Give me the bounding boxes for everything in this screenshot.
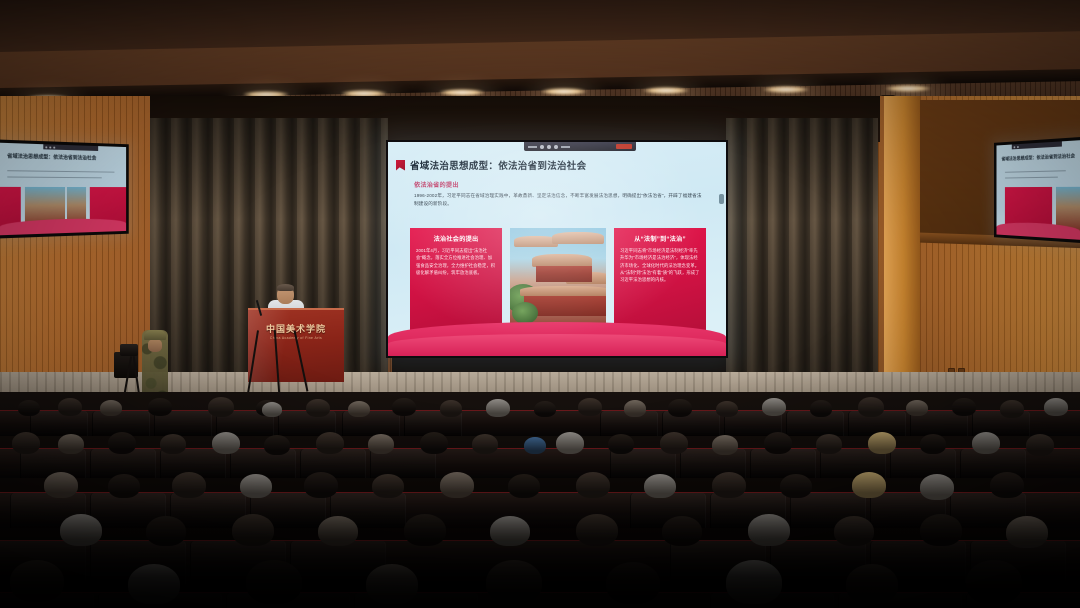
audience-head (368, 434, 394, 454)
audience-head (12, 432, 40, 454)
audience-head (44, 472, 78, 498)
audience-head (108, 474, 140, 498)
audience-head (662, 516, 702, 546)
audience-head (420, 432, 448, 454)
side-display-right-screen: 省域法治思想成型：依法治省到法治社会 (996, 140, 1080, 240)
audience-head (712, 472, 746, 498)
audience-head (472, 434, 498, 454)
audience-head (60, 514, 102, 546)
slide-card-text: 习近平同志将“市场经济是法制经济”率先升华为“市场经济是法治经济”，体现法经济市… (620, 247, 700, 283)
audience-head (608, 434, 634, 454)
audience-head (576, 472, 610, 498)
photo-haze (510, 228, 606, 330)
audience-head (748, 514, 790, 546)
audience-head (208, 397, 234, 417)
text-line (7, 176, 102, 178)
audience-head (10, 560, 64, 602)
audience-head (1026, 434, 1054, 456)
audience-head (972, 432, 1000, 454)
audience-head (920, 474, 954, 500)
downlight-6 (643, 87, 689, 94)
audience-head (966, 560, 1022, 604)
audience-head (392, 398, 416, 416)
audience-head (128, 564, 180, 604)
screen-side-marker (719, 194, 724, 204)
audience-head (534, 401, 556, 417)
audience-head (716, 401, 738, 417)
downlight-4 (439, 89, 485, 96)
text-line (1005, 170, 1066, 173)
audience-head (810, 400, 832, 417)
audience-head (846, 564, 898, 604)
slide-card-heading: 法治社会的提出 (416, 234, 496, 243)
timer-icon[interactable] (561, 146, 570, 148)
audience-head (780, 474, 812, 498)
audience-head (160, 434, 186, 454)
audience-head (100, 400, 122, 416)
presenter-toolbar-mini[interactable] (43, 144, 98, 151)
audience-head (246, 560, 302, 604)
podium-name-cn: 中国美术学院 (258, 322, 334, 335)
audience-head (556, 432, 584, 454)
presenter-toolbar[interactable] (524, 142, 636, 151)
audience-head (1000, 400, 1024, 418)
audience-head (712, 435, 738, 455)
audience-head (668, 399, 692, 417)
audience-head (920, 434, 946, 454)
slide-body-text: 1996-2002年，习近平同志在省域治理实践中，革故鼎新、坚定法治信念，不断丰… (414, 192, 704, 208)
slide-card-left: 法治社会的提出 2001年4月，习近平同志提出“法治社会”概念，落实全方位推进社… (410, 228, 502, 330)
audience-head (304, 472, 338, 498)
audience-head (240, 474, 272, 498)
audience-head (920, 514, 962, 546)
speaker-hair (277, 284, 294, 291)
audience-head (440, 400, 462, 417)
audience-head (490, 516, 530, 546)
slide-title: 省域法治思想成型：依法治省到法治社会 (410, 158, 586, 172)
audience-head (486, 560, 542, 604)
stage-curtain-right (726, 118, 878, 408)
audience-head (624, 400, 646, 417)
gear-icon[interactable] (1017, 146, 1019, 148)
audience-head (852, 472, 886, 498)
audience-head (1006, 516, 1048, 548)
slide-card-text: 2001年4月，习近平同志提出“法治社会”概念，落实全方位推进社会治理、加强食品… (416, 247, 496, 276)
seat (30, 411, 88, 436)
audience-head (108, 432, 136, 454)
person-icon[interactable] (554, 145, 558, 149)
audience-head (858, 397, 884, 417)
slide-title-row: 省域法治思想成型：依法治省到法治社会 (396, 158, 586, 172)
audience-head (726, 560, 782, 604)
slide-wave-band-front (388, 334, 726, 356)
audience-head (660, 432, 688, 454)
text-line (7, 170, 114, 173)
text-line (1005, 177, 1058, 179)
audience-head (644, 474, 676, 498)
audience-head (58, 434, 84, 454)
audience-head (318, 516, 358, 546)
audience-head (146, 516, 186, 546)
presentation-slide: 省域法治思想成型：依法治省到法治社会 依法治省的提出 1996-2002年，习近… (388, 142, 726, 356)
downlight-7 (763, 86, 809, 93)
auditorium-scene: 省域法治思想成型：依法治省到法治社会 依法治省的提出 1996-2002年，习近… (0, 0, 1080, 608)
slide-cards-row: 法治社会的提出 2001年4月，习近平同志提出“法治社会”概念，落实全方位推进社… (410, 228, 706, 330)
audience-head (1044, 398, 1068, 416)
audience-head (952, 398, 976, 416)
audience-head (762, 398, 786, 416)
slide-photo-palace (510, 228, 606, 330)
slide-subtitle: 依法治省的提出 (414, 180, 459, 189)
downlight-5 (541, 88, 587, 95)
slide-card-heading: 从“法制”到“法治” (620, 234, 700, 243)
seat (890, 449, 956, 478)
audience-head (440, 472, 474, 498)
pointer-icon[interactable] (49, 146, 51, 148)
audience-head (148, 398, 172, 416)
audience-head (316, 432, 344, 454)
audience-head (578, 398, 602, 416)
operator-face (148, 339, 162, 352)
side-display-right[interactable]: 省域法治思想成型：依法治省到法治社会 (994, 137, 1080, 243)
audience-head (372, 474, 404, 498)
audience-head (816, 434, 842, 454)
audience-head (348, 401, 370, 417)
slide-card-right: 从“法制”到“法治” 习近平同志将“市场经济是法制经济”率先升华为“市场经济是法… (614, 228, 706, 330)
audience-head (366, 564, 418, 604)
side-display-left-title: 省域法治思想成型：依法治省到法治社会 (7, 152, 96, 161)
downlight-8 (885, 85, 931, 92)
seat (230, 449, 296, 478)
audience-head (576, 514, 618, 546)
audience-head (486, 399, 510, 417)
side-display-left-screen: 省域法治思想成型：依法治省到法治社会 (0, 143, 126, 236)
audience-head (868, 432, 896, 454)
side-display-left[interactable]: 省域法治思想成型：依法治省到法治社会 (0, 139, 129, 238)
presenter-toolbar-mini[interactable] (1012, 141, 1062, 149)
audience-head (58, 398, 82, 416)
audience-head (262, 402, 282, 417)
pen-icon[interactable] (45, 146, 47, 148)
side-display-right-title: 省域法治思想成型：依法治省到法治社会 (1002, 153, 1076, 162)
pen-icon[interactable] (528, 146, 537, 148)
audience-head (508, 474, 540, 498)
audience-head (404, 514, 446, 546)
audience-head (834, 516, 874, 546)
audience-head (18, 400, 40, 416)
audience-head (990, 472, 1024, 498)
audience-area (0, 392, 1080, 608)
flag-bookmark-icon (396, 160, 405, 171)
audience-head (524, 437, 546, 454)
audience-head (906, 400, 928, 416)
audience-head (306, 399, 330, 417)
audience-head (606, 562, 660, 604)
audience-head (232, 514, 274, 546)
gear-icon[interactable] (547, 145, 551, 149)
projection-screen[interactable]: 省域法治思想成型：依法治省到法治社会 依法治省的提出 1996-2002年，习近… (388, 142, 726, 356)
video-camera (120, 344, 138, 356)
audience-head (172, 472, 206, 498)
pen-icon[interactable] (1014, 146, 1016, 148)
audience-head (264, 435, 290, 455)
audience-head (764, 432, 792, 454)
operator-cap (144, 330, 166, 340)
audience-head (212, 432, 240, 454)
curtain-shading (726, 118, 878, 408)
gear-icon[interactable] (53, 146, 55, 148)
wall-right-column (884, 96, 920, 396)
pointer-icon[interactable] (540, 145, 544, 149)
end-show-button[interactable] (616, 144, 632, 149)
